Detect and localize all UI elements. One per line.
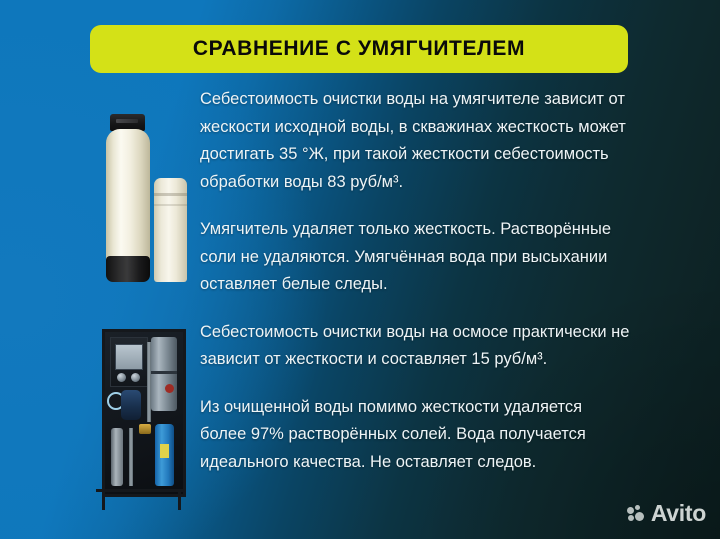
paragraph-osmosis-cost: Себестоимость очистки воды на осмосе пра… xyxy=(200,319,632,374)
paragraph-softener-limits: Умягчитель удаляет только жесткость. Рас… xyxy=(200,216,632,299)
avito-watermark: Avito xyxy=(627,502,706,525)
ro-brass-fitting xyxy=(139,424,151,434)
ro-display-screen xyxy=(115,344,143,370)
ro-high-pressure-pump xyxy=(121,390,141,420)
ro-frame-leg xyxy=(178,492,181,510)
ro-pipe xyxy=(147,342,151,422)
ro-frame-crossbar xyxy=(96,489,186,492)
softener-brine-tank xyxy=(154,178,187,282)
water-softener-photo xyxy=(88,96,196,293)
ro-membrane-vessels xyxy=(151,337,177,411)
paragraph-osmosis-quality: Из очищенной воды помимо жесткости удаля… xyxy=(200,394,632,477)
ro-pipe xyxy=(129,428,133,486)
slide-canvas: СРАВНЕНИЕ С УМЯГЧИТЕЛЕМ xyxy=(0,0,720,539)
ro-control-panel xyxy=(110,337,148,387)
ro-prefilter-housing xyxy=(111,428,123,486)
paragraph-softener-cost: Себестоимость очистки воды на умягчителе… xyxy=(200,86,632,196)
ro-gauge-icon xyxy=(117,373,126,382)
softener-resin-tank xyxy=(106,129,150,269)
ro-blue-filter-vessel xyxy=(155,424,174,486)
ro-gauge-icon xyxy=(131,373,140,382)
title-banner: СРАВНЕНИЕ С УМЯГЧИТЕЛЕМ xyxy=(90,25,628,73)
ro-red-valve-icon xyxy=(165,384,174,393)
avito-wordmark: Avito xyxy=(651,502,706,525)
ro-frame-leg xyxy=(102,492,105,510)
body-copy: Себестоимость очистки воды на умягчителе… xyxy=(200,86,632,476)
page-title: СРАВНЕНИЕ С УМЯГЧИТЕЛЕМ xyxy=(193,37,525,61)
avito-dots-icon xyxy=(627,505,646,522)
softener-tank-base xyxy=(106,256,150,282)
ro-frame xyxy=(102,329,186,497)
reverse-osmosis-system-photo xyxy=(88,325,198,513)
